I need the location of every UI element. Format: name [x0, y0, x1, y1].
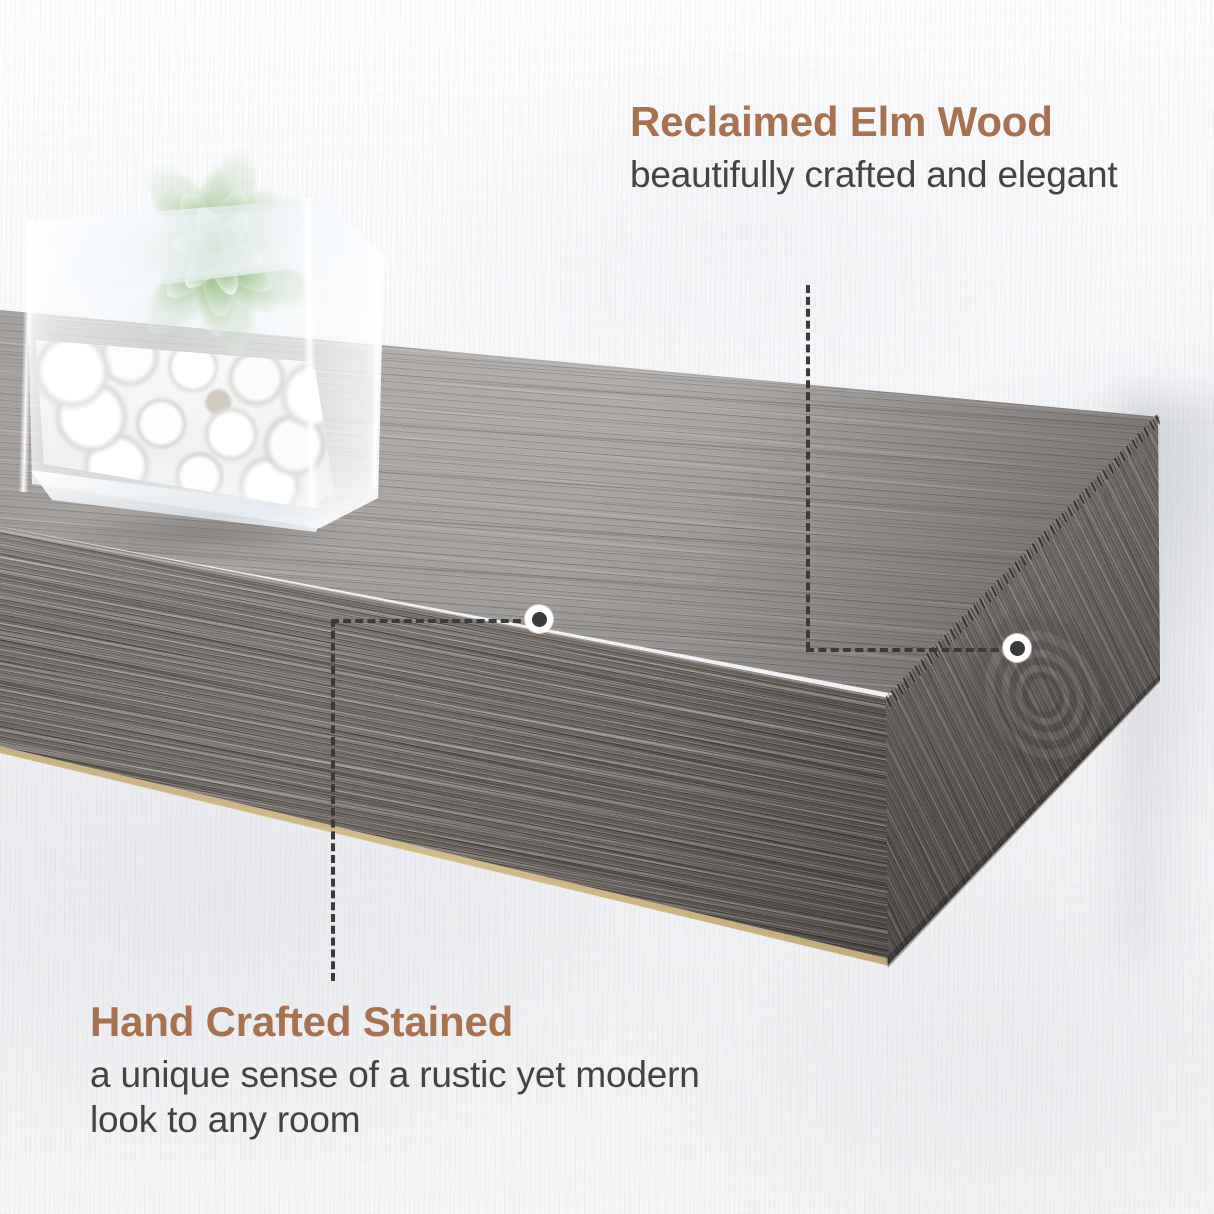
- callout-text-hand-crafted-stained: Hand Crafted Stained a unique sense of a…: [90, 1000, 730, 1143]
- callout-subtext: a unique sense of a rustic yet modern lo…: [90, 1052, 730, 1144]
- callout-heading: Hand Crafted Stained: [90, 1000, 730, 1045]
- infographic-canvas: Reclaimed Elm Wood beautifully crafted a…: [0, 0, 1214, 1214]
- callout-leader-horizontal-stain: [331, 619, 533, 623]
- callout-heading: Reclaimed Elm Wood: [630, 100, 1150, 145]
- succulent-plant: [102, 126, 332, 376]
- callout-leader-horizontal-wood: [806, 648, 1011, 652]
- callout-text-reclaimed-elm-wood: Reclaimed Elm Wood beautifully crafted a…: [630, 100, 1150, 197]
- callout-marker-wood-end[interactable]: [1003, 634, 1031, 662]
- callout-subtext: beautifully crafted and elegant: [630, 152, 1150, 198]
- callout-leader-vertical-wood: [806, 285, 810, 650]
- callout-marker-shelf-surface[interactable]: [525, 605, 553, 633]
- callout-leader-vertical-stain: [331, 619, 335, 981]
- glass-cube-vase: [12, 120, 412, 550]
